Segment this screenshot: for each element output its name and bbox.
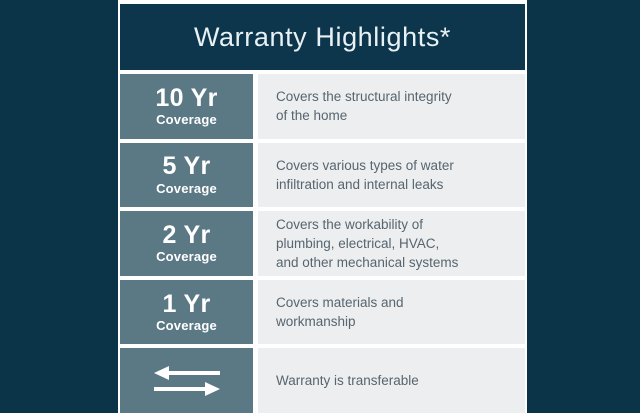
coverage-label: Coverage	[156, 318, 217, 334]
coverage-term-cell: 2 Yr Coverage	[120, 211, 253, 276]
warranty-rows-list: 10 Yr Coverage Covers the structural int…	[118, 70, 527, 413]
list-item: Warranty is transferable	[118, 348, 527, 413]
transfer-description-cell: Warranty is transferable	[258, 348, 525, 413]
coverage-description: Covers various types of water infiltrati…	[276, 156, 454, 194]
coverage-term-cell: 5 Yr Coverage	[120, 143, 253, 208]
coverage-term-cell: 1 Yr Coverage	[120, 280, 253, 345]
coverage-label: Coverage	[156, 249, 217, 265]
coverage-years: 1 Yr	[162, 291, 210, 317]
list-item: 5 Yr Coverage Covers various types of wa…	[118, 143, 527, 208]
coverage-label: Coverage	[156, 181, 217, 197]
coverage-description: Covers the structural integrity of the h…	[276, 87, 452, 125]
coverage-description: Covers materials and workmanship	[276, 293, 404, 331]
list-item: 10 Yr Coverage Covers the structural int…	[118, 74, 527, 139]
list-item: 2 Yr Coverage Covers the workability of …	[118, 211, 527, 276]
coverage-years: 5 Yr	[162, 153, 210, 179]
coverage-years: 10 Yr	[155, 85, 217, 111]
transfer-term-cell	[120, 348, 253, 413]
coverage-term-cell: 10 Yr Coverage	[120, 74, 253, 139]
warranty-highlights-card: Warranty Highlights* 10 Yr Coverage Cove…	[118, 0, 527, 413]
coverage-description: Covers the workability of plumbing, elec…	[276, 215, 458, 272]
card-header: Warranty Highlights*	[120, 4, 525, 70]
coverage-label: Coverage	[156, 112, 217, 128]
page-title: Warranty Highlights*	[194, 24, 451, 51]
coverage-description-cell: Covers various types of water infiltrati…	[258, 143, 525, 208]
coverage-description-cell: Covers materials and workmanship	[258, 280, 525, 345]
screenshot-root: Warranty Highlights* 10 Yr Coverage Cove…	[0, 0, 640, 413]
coverage-description-cell: Covers the workability of plumbing, elec…	[258, 211, 525, 276]
transfer-arrows-icon	[154, 366, 220, 396]
list-item: 1 Yr Coverage Covers materials and workm…	[118, 280, 527, 345]
coverage-description-cell: Covers the structural integrity of the h…	[258, 74, 525, 139]
transfer-description: Warranty is transferable	[276, 371, 419, 390]
coverage-years: 2 Yr	[162, 222, 210, 248]
